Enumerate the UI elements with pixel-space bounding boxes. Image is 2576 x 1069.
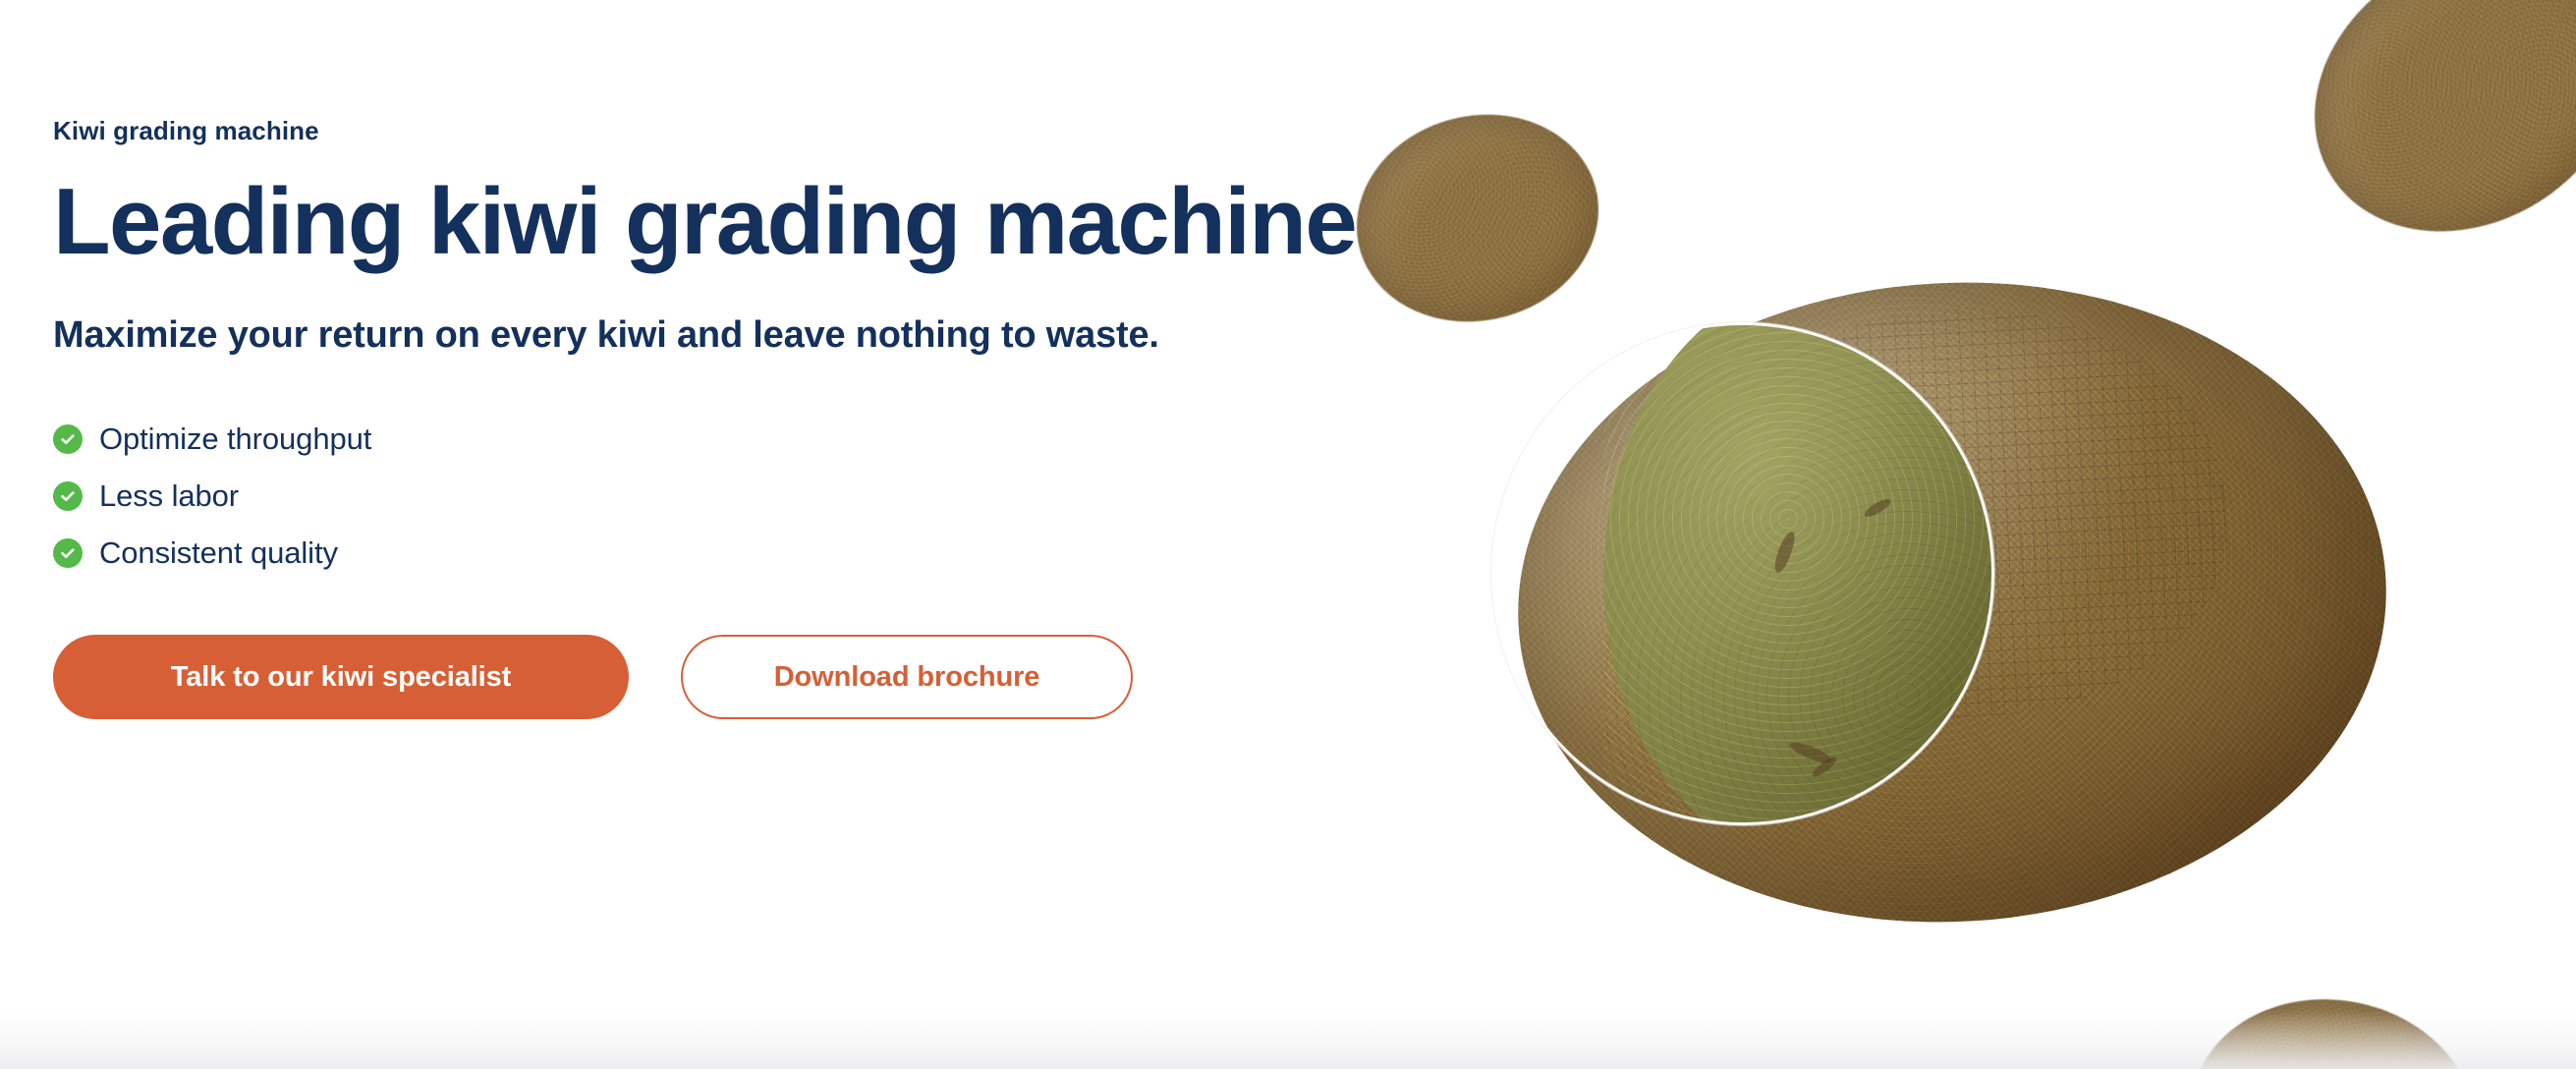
benefit-label: Consistent quality — [99, 535, 338, 571]
scan-ring-icon — [1491, 322, 1994, 825]
list-item: Optimize throughput — [53, 411, 1527, 468]
hero-content: Kiwi grading machine Leading kiwi gradin… — [53, 116, 1527, 719]
kiwi-blemish — [1772, 530, 1798, 575]
kiwi-fuzz-texture — [2172, 978, 2493, 1069]
check-circle-icon — [53, 538, 83, 568]
kiwi-inspected-patch — [1493, 324, 1992, 823]
kiwi-blemish — [1862, 497, 1892, 520]
download-brochure-button[interactable]: Download brochure — [681, 635, 1133, 719]
kiwi-blemish — [1788, 738, 1834, 767]
kiwi-hero-image — [1502, 260, 2403, 943]
patch-surface — [1603, 324, 1992, 823]
section-bottom-divider — [0, 1010, 2576, 1069]
kiwi-shading — [1502, 260, 2403, 943]
hero-section: Kiwi grading machine Leading kiwi gradin… — [0, 0, 2576, 1069]
kiwi-shading — [2262, 0, 2576, 288]
kiwi-fuzz-texture — [1502, 260, 2403, 943]
kiwi-skin — [1502, 260, 2403, 943]
patch-speckle — [1603, 324, 1992, 823]
subheadline: Maximize your return on every kiwi and l… — [53, 311, 1527, 360]
cta-row: Talk to our kiwi specialist Download bro… — [53, 635, 1527, 719]
check-circle-icon — [53, 481, 83, 511]
list-item: Consistent quality — [53, 525, 1527, 582]
kiwi-blemish — [1810, 755, 1839, 779]
talk-to-specialist-button[interactable]: Talk to our kiwi specialist — [53, 635, 629, 719]
benefit-label: Optimize throughput — [99, 422, 371, 457]
page-title: Leading kiwi grading machine — [53, 172, 1527, 272]
check-circle-icon — [53, 424, 83, 454]
list-item: Less labor — [53, 468, 1527, 525]
kiwi-bottom-image — [2172, 978, 2493, 1069]
kiwi-top-right-image — [2262, 0, 2576, 288]
eyebrow-label: Kiwi grading machine — [53, 116, 1527, 146]
kiwi-shading — [2172, 978, 2493, 1069]
kiwi-scan-mesh — [1677, 295, 2236, 731]
kiwi-fuzz-texture — [2262, 0, 2576, 288]
benefit-label: Less labor — [99, 478, 239, 514]
benefit-list: Optimize throughput Less labor Consisten… — [53, 411, 1527, 582]
